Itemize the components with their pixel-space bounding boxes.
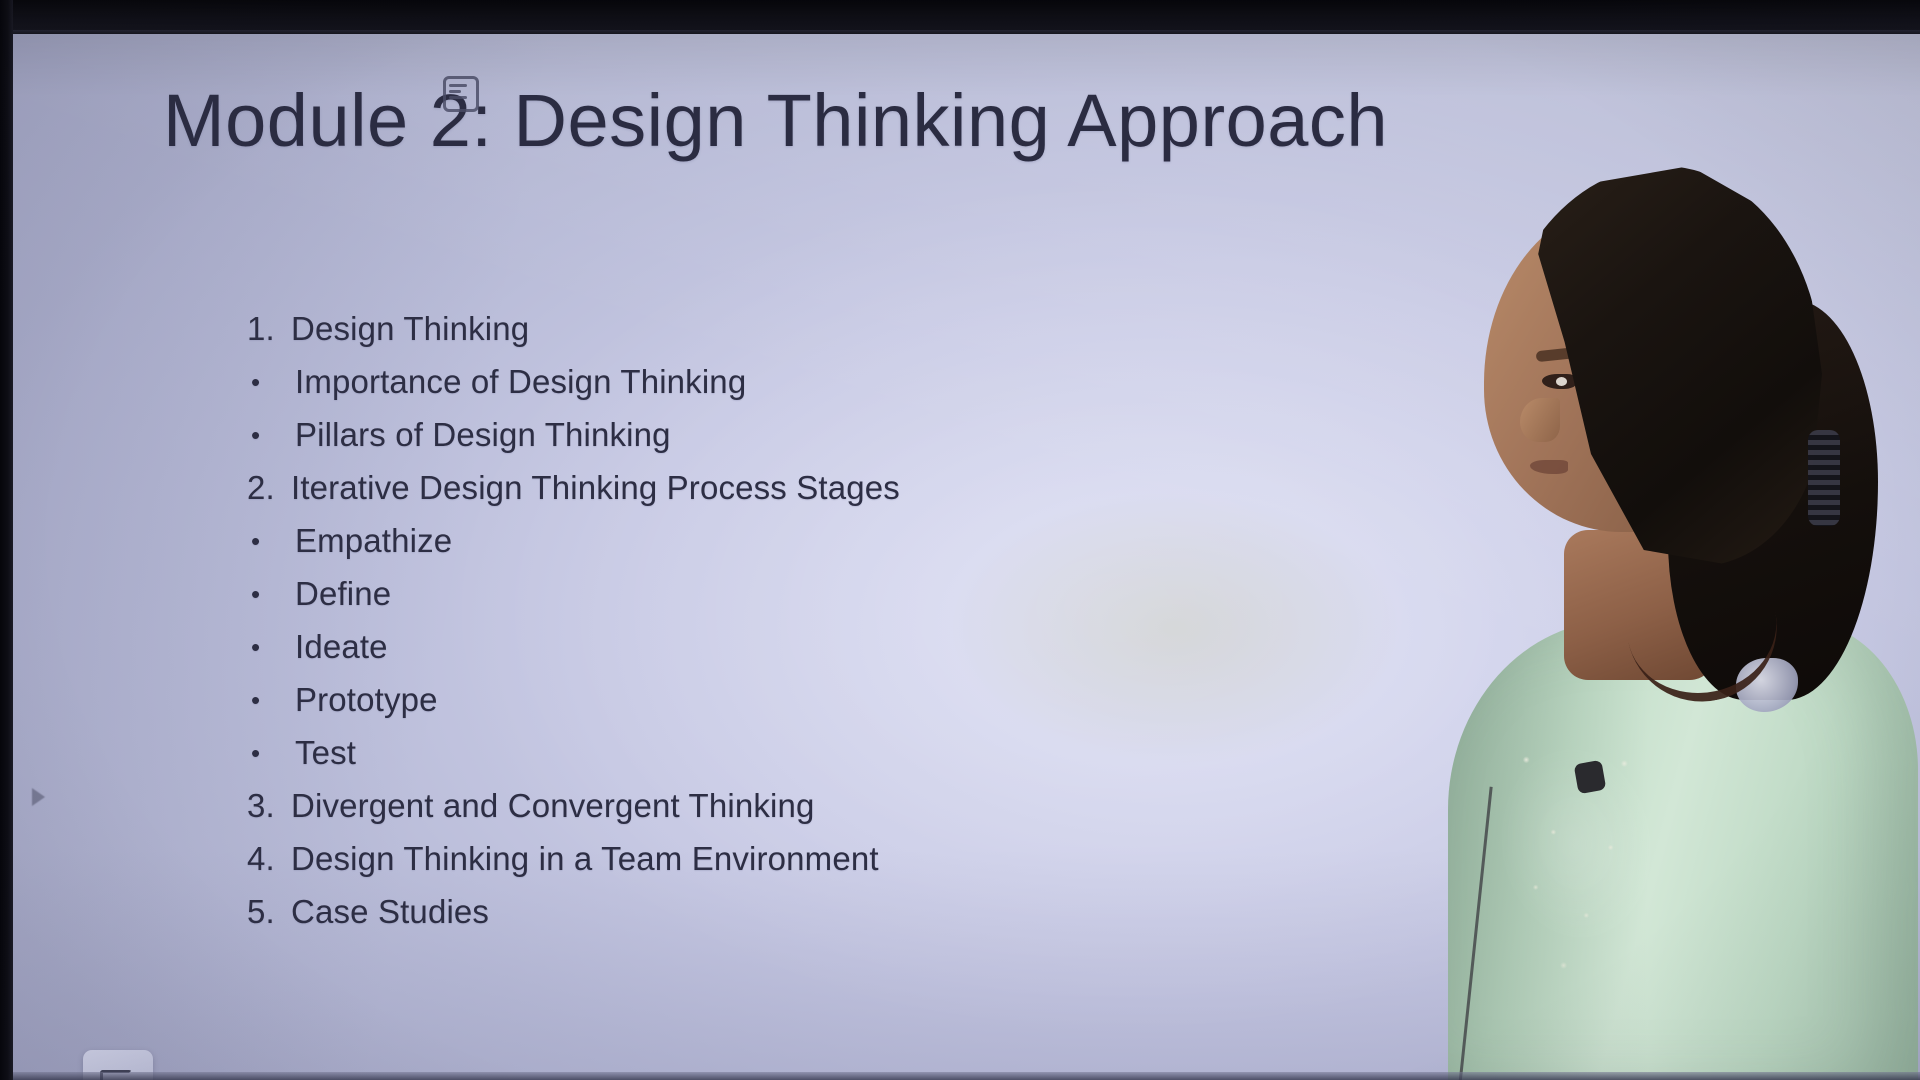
outline-text: Design Thinking — [291, 310, 529, 348]
bullet-icon: • — [247, 634, 295, 660]
outline-text: Pillars of Design Thinking — [295, 416, 671, 454]
outline-text: Design Thinking in a Team Environment — [291, 840, 879, 878]
outline-marker: 1. — [247, 310, 291, 348]
outline-item: • Prototype — [247, 681, 1427, 734]
projection-screen: Module 2: Design Thinking Approach 1. De… — [11, 30, 1920, 1080]
screen-bezel-left — [0, 0, 13, 1080]
outline-text: Test — [295, 734, 356, 772]
outline-item: • Test — [247, 734, 1427, 787]
outline-item: • Pillars of Design Thinking — [247, 416, 1427, 469]
slide-outline-list: 1. Design Thinking • Importance of Desig… — [247, 310, 1427, 946]
outline-marker: 4. — [247, 840, 291, 878]
screen-bezel-bottom — [0, 1072, 1920, 1080]
annotation-toolbar-icon[interactable] — [443, 76, 479, 112]
bullet-icon: • — [247, 581, 295, 607]
presentation-slide: Module 2: Design Thinking Approach 1. De… — [11, 30, 1920, 1080]
screen-bezel-top — [0, 0, 1920, 34]
outline-marker: 2. — [247, 469, 291, 507]
bullet-icon: • — [247, 369, 295, 395]
video-frame: Module 2: Design Thinking Approach 1. De… — [0, 0, 1920, 1080]
outline-marker: 3. — [247, 787, 291, 825]
slide-title: Module 2: Design Thinking Approach — [163, 78, 1388, 163]
outline-text: Iterative Design Thinking Process Stages — [291, 469, 900, 507]
outline-item: • Ideate — [247, 628, 1427, 681]
outline-text: Ideate — [295, 628, 388, 666]
outline-text: Empathize — [295, 522, 452, 560]
bullet-icon: • — [247, 687, 295, 713]
outline-item: 5. Case Studies — [247, 893, 1427, 946]
bullet-icon: • — [247, 740, 295, 766]
outline-item: • Empathize — [247, 522, 1427, 575]
outline-item: 3. Divergent and Convergent Thinking — [247, 787, 1427, 840]
outline-text: Case Studies — [291, 893, 489, 931]
outline-marker: 5. — [247, 893, 291, 931]
outline-item: 1. Design Thinking — [247, 310, 1427, 363]
outline-item: • Importance of Design Thinking — [247, 363, 1427, 416]
outline-item: 4. Design Thinking in a Team Environment — [247, 840, 1427, 893]
outline-text: Divergent and Convergent Thinking — [291, 787, 815, 825]
outline-text: Importance of Design Thinking — [295, 363, 746, 401]
outline-text: Prototype — [295, 681, 438, 719]
next-slide-arrow-icon[interactable] — [32, 788, 45, 806]
outline-item: • Define — [247, 575, 1427, 628]
outline-text: Define — [295, 575, 391, 613]
bullet-icon: • — [247, 528, 295, 554]
outline-item: 2. Iterative Design Thinking Process Sta… — [247, 469, 1427, 522]
bullet-icon: • — [247, 422, 295, 448]
